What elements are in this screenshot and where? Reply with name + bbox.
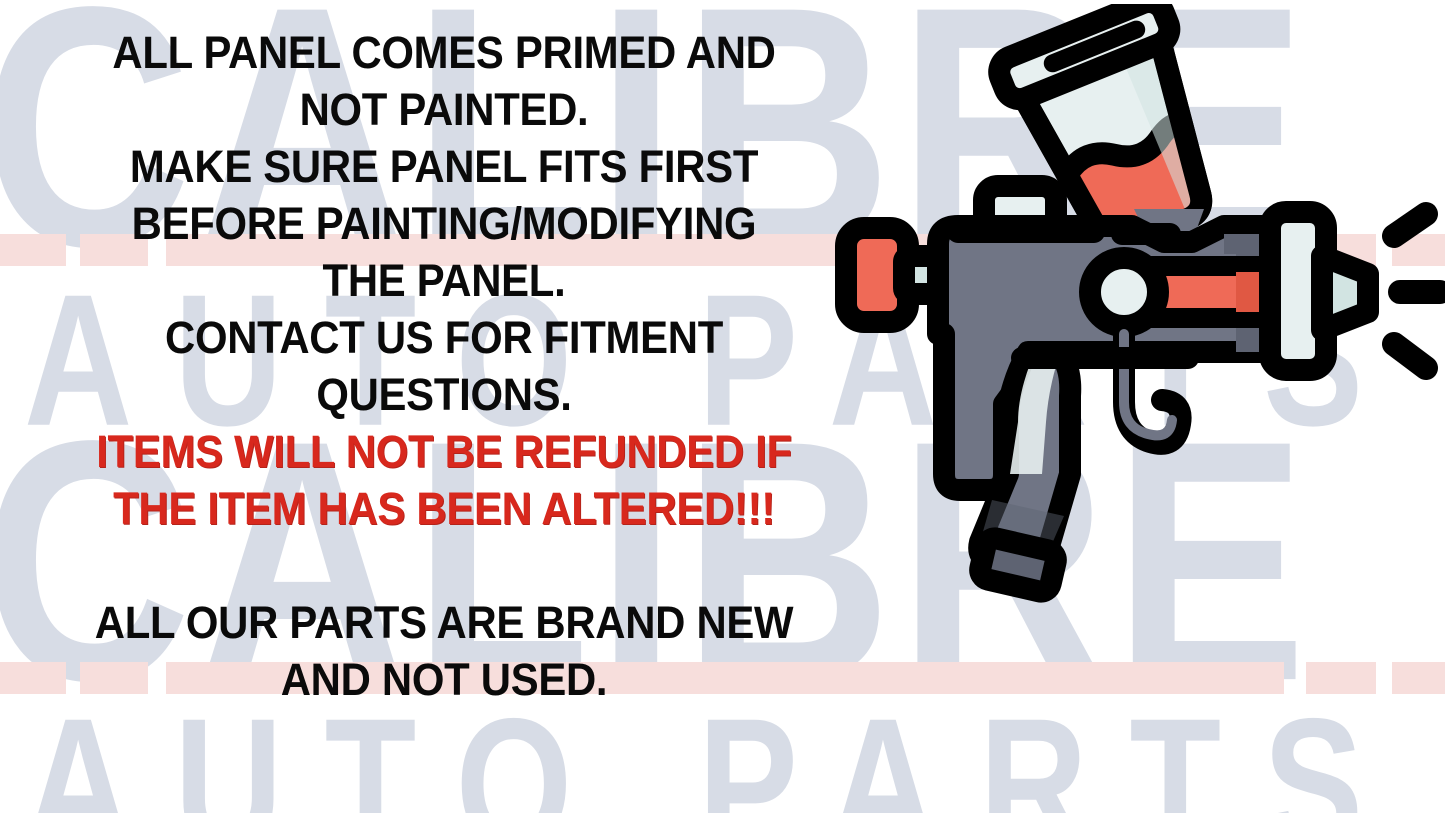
spray-gun-svg xyxy=(832,4,1445,604)
stripe-segment xyxy=(1306,662,1376,694)
stripe-segment xyxy=(1392,662,1445,694)
notice-line: NOT PAINTED. xyxy=(31,81,857,138)
notice-line-spacer xyxy=(31,537,857,594)
notice-line: BEFORE PAINTING/MODIFYING xyxy=(31,195,857,252)
notice-line: THE PANEL. xyxy=(31,252,857,309)
notice-line: ALL OUR PARTS ARE BRAND NEW xyxy=(31,594,857,651)
notice-line-warning: THE ITEM HAS BEEN ALTERED!!! xyxy=(31,480,857,537)
notice-line: AND NOT USED. xyxy=(31,651,857,708)
notice-line: CONTACT US FOR FITMENT xyxy=(31,309,857,366)
watermark-word-auto-parts-bottom: AUTO PARTS xyxy=(24,690,1405,813)
notice-text-block: ALL PANEL COMES PRIMED AND NOT PAINTED. … xyxy=(0,24,888,708)
notice-line: MAKE SURE PANEL FITS FIRST xyxy=(31,138,857,195)
spray-lines xyxy=(1394,214,1440,368)
handle-cap xyxy=(978,536,1058,593)
spray-line-bottom xyxy=(1394,344,1426,368)
paint-spray-gun-icon xyxy=(832,4,1445,604)
notice-line-warning: ITEMS WILL NOT BE REFUNDED IF xyxy=(31,423,857,480)
notice-line: ALL PANEL COMES PRIMED AND xyxy=(31,24,857,81)
promo-banner: CALIBRE AUTO PARTS CALIBRE AUTO PARTS AL… xyxy=(0,0,1445,813)
notice-line: QUESTIONS. xyxy=(31,366,857,423)
nozzle-cone xyxy=(1322,256,1368,330)
spray-line-top xyxy=(1394,214,1426,236)
